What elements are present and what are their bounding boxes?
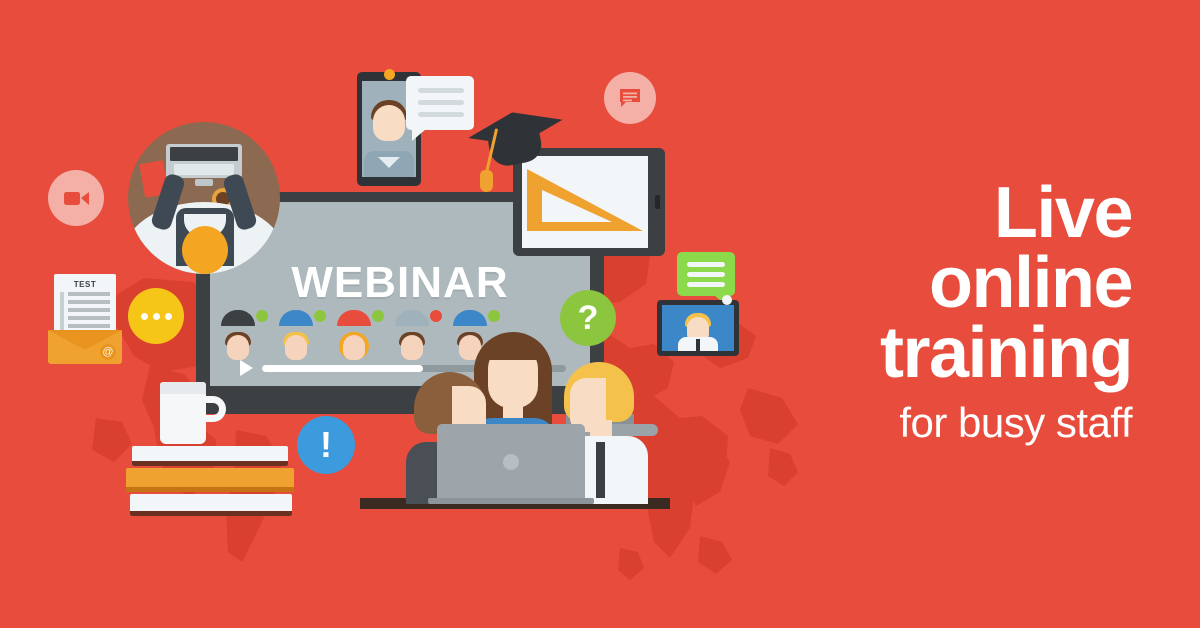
book-stack [126,446,294,518]
laptop-logo [503,454,519,470]
document-line [68,292,110,296]
top-down-desk-scene [128,122,280,274]
exclamation-icon: ! [320,427,332,463]
more-options-badge[interactable] [128,288,184,344]
help-badge[interactable]: ? [560,290,616,346]
book-middle [126,468,294,492]
bubble-tail [412,129,426,141]
laptop-base [428,498,594,504]
headline-subtitle: for busy staff [712,396,1132,450]
ellipsis-icon [141,313,172,320]
tablet-home-button[interactable] [655,195,660,209]
status-dot-online [256,310,268,322]
laptop-screen [170,147,238,161]
mug-rim [160,382,206,394]
speaker-head [373,105,405,141]
bubble-text-line [418,100,464,105]
video-camera-badge[interactable] [48,170,104,226]
bubble-text-line [687,272,725,277]
laptop-top-view [166,144,242,178]
laptop-touchpad [195,179,213,186]
book-edge [132,461,288,466]
bubble-text-line [418,88,464,93]
alert-badge[interactable]: ! [297,416,355,474]
bubble-text-line [687,282,725,287]
document-line [68,300,110,304]
at-symbol-icon: @ [100,344,116,360]
laptop-front-view[interactable] [437,424,585,500]
notification-dot [384,69,395,80]
play-icon[interactable] [240,360,253,376]
banner-canvas: Live online training for busy staff WEBI… [0,0,1200,628]
graduation-cap [468,112,564,168]
attendee-tie [696,339,700,351]
headline-block: Live online training for busy staff [712,178,1132,450]
green-speech-bubble [677,252,735,296]
coffee-mug [160,382,206,444]
chat-badge[interactable] [604,72,656,124]
video-camera-icon [62,187,90,209]
book-bottom [130,494,292,516]
headline-line-1: Live [712,178,1132,248]
tablet-screen [522,156,648,248]
ellipsis-dot [165,313,172,320]
status-dot-online [314,310,326,322]
chat-bubble-icon [617,85,643,111]
document-line [68,316,110,320]
webcam-indicator-icon [722,295,732,305]
status-dot-online [372,310,384,322]
headline-line-2: online [712,248,1132,318]
attendee-bangs [486,340,540,360]
progress-fill [262,365,423,372]
status-dot-online [488,310,500,322]
laptop-keyboard [174,164,234,175]
book-edge [126,487,294,492]
white-speech-bubble [406,76,474,130]
document-line [68,308,110,312]
cap-tassel [480,170,493,192]
document-line [68,324,110,328]
bubble-text-line [418,112,464,117]
ellipsis-dot [153,313,160,320]
landscape-video-tile[interactable] [657,300,739,356]
question-mark-icon: ? [578,301,599,335]
book-edge [130,511,292,516]
status-dot-busy [430,310,442,322]
ellipsis-dot [141,313,148,320]
bubble-text-line [687,262,725,267]
book-top [132,446,288,466]
attendee-tie [596,442,605,498]
landscape-tile-screen [662,305,734,351]
person-head-top-view [182,226,228,274]
document-title: TEST [54,280,116,289]
headline-line-3: training [712,318,1132,388]
email-envelope[interactable]: @ [48,330,122,364]
